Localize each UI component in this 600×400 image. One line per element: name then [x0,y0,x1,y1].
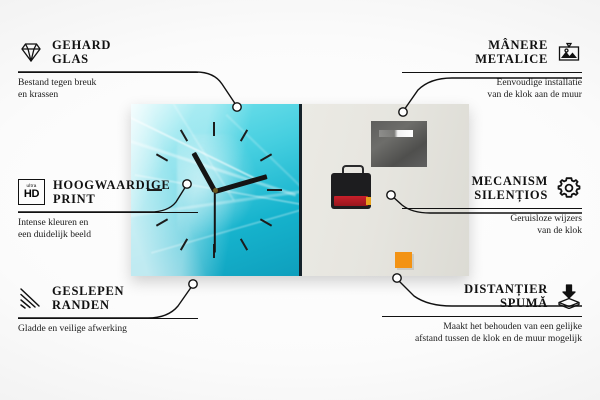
feature-sub-line2: en krassen [18,89,198,101]
diamond-icon [18,39,44,65]
feature-metal-handles: MÂNERE METALICE Eenvoudige installatie v… [402,38,582,100]
feature-sub-line1: Eenvoudige installatie [402,77,582,89]
hands-hub [213,188,218,193]
foam-spacer [395,252,412,268]
feature-title-line1: DISTANȚIER [464,282,548,296]
feature-title-line1: HOOGWAARDIGE [53,178,170,192]
feature-heading: MÂNERE METALICE [402,38,582,66]
feature-title-line2: GLAS [52,52,111,66]
ultra-hd-icon: ultraHD [18,179,45,205]
feature-title-line2: RANDEN [52,298,124,312]
feature-sub-line1: Maakt het behouden van een gelijke [382,321,582,333]
hour-tick [213,122,215,136]
divider [402,72,582,73]
picture-frame-icon [556,39,582,65]
divider [18,318,198,319]
feature-title-line2: METALICE [475,52,548,66]
feature-heading: GESLEPEN RANDEN [18,284,198,312]
divider [18,212,198,213]
divider [18,72,198,73]
feature-sub-line2: een duidelijk beeld [18,229,198,241]
gear-icon [556,175,582,201]
feature-title-line1: GEHARD [52,38,111,52]
infographic-canvas: GEHARD GLAS Bestand tegen breuk en krass… [0,0,600,400]
feature-tempered-glass: GEHARD GLAS Bestand tegen breuk en krass… [18,38,198,100]
feature-sub-line1: Bestand tegen breuk [18,77,198,89]
feature-title-line1: MÂNERE [475,38,548,52]
feature-heading: DISTANȚIER SPUMĂ [382,282,582,310]
metal-hanger-plate [371,121,427,167]
feature-foam-spacer: DISTANȚIER SPUMĂ Maakt het behouden van … [382,282,582,344]
hour-tick [267,189,282,191]
feature-sub-line1: Intense kleuren en [18,217,198,229]
feature-polished-edges: GESLEPEN RANDEN Gladde en veilige afwerk… [18,284,198,335]
feature-sub-line1: Geruisloze wijzers [402,213,582,225]
feature-sub-line2: van de klok aan de muur [402,89,582,101]
feature-title-line1: MECANISM [472,174,548,188]
polished-edges-icon [18,285,44,311]
feature-heading: MECANISM SILENȚIOS [402,174,582,202]
press-down-icon [556,283,582,309]
feature-sub-line2: van de klok [402,225,582,237]
second-hand [214,191,216,253]
aa-battery [334,196,368,206]
feature-sub-line1: Gladde en veilige afwerking [18,323,198,335]
divider [402,208,582,209]
divider [382,316,582,317]
feature-heading: GEHARD GLAS [18,38,198,66]
feature-silent-mechanism: MECANISM SILENȚIOS Geruisloze wijzers va… [402,174,582,236]
feature-title-line1: GESLEPEN [52,284,124,298]
feature-sub-line2: afstand tussen de klok en de muur mogeli… [382,333,582,345]
feature-title-line2: PRINT [53,192,170,206]
feature-title-line2: SILENȚIOS [472,188,548,202]
feature-high-quality-print: ultraHD HOOGWAARDIGE PRINT Intense kleur… [18,178,198,240]
feature-heading: ultraHD HOOGWAARDIGE PRINT [18,178,198,206]
feature-title-line2: SPUMĂ [464,296,548,310]
